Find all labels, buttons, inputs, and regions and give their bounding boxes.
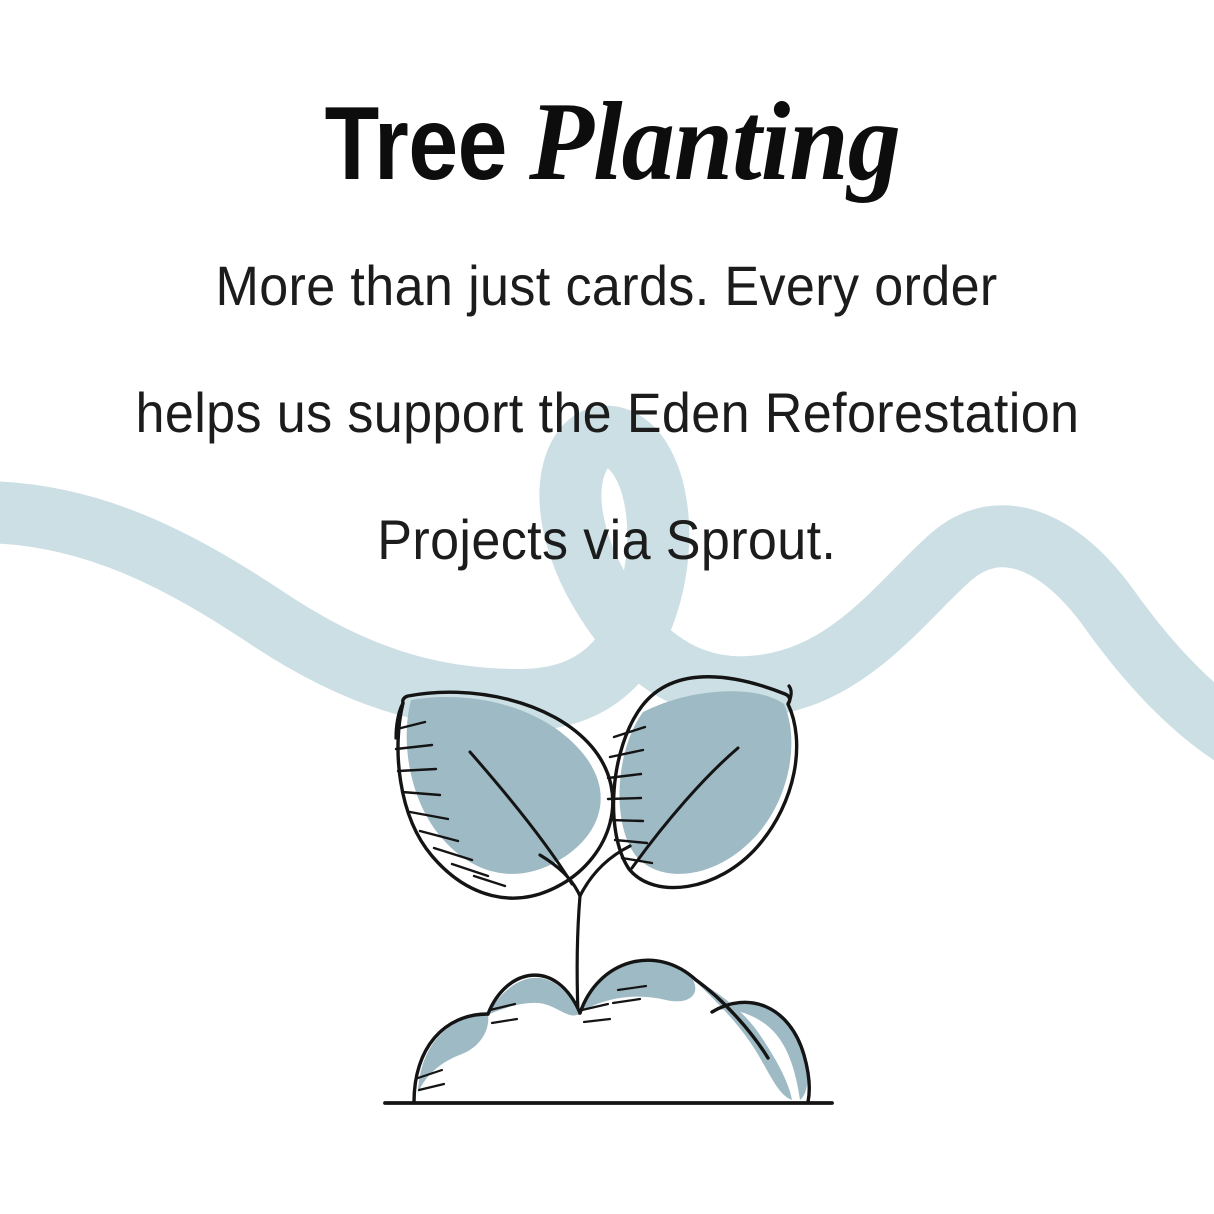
poster-canvas: TreePlanting More than just cards. Every…	[0, 0, 1214, 1214]
body-text-line-2-text: helps us support the Eden Reforestation	[135, 385, 1079, 441]
page-title-part-bold: Tree	[325, 92, 507, 196]
page-title-part-italic: Planting	[529, 86, 900, 198]
body-text-line-2: helps us support the Eden Reforestation	[0, 385, 1214, 441]
text-layer: TreePlanting More than just cards. Every…	[0, 0, 1214, 1214]
body-text-line-1-text: More than just cards. Every order	[216, 258, 998, 314]
page-title: TreePlanting	[0, 86, 1214, 198]
body-text-line-3: Projects via Sprout.	[0, 512, 1214, 568]
body-text-line-3-text: Projects via Sprout.	[377, 512, 836, 568]
body-text-line-1: More than just cards. Every order	[0, 258, 1214, 314]
